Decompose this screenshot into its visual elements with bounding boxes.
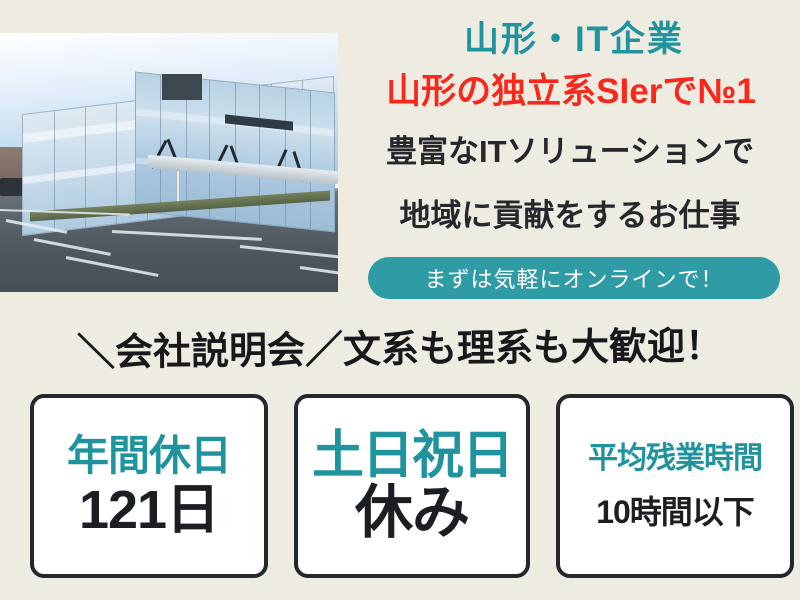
benefit-card-overtime: 平均残業時間 10時間以下 <box>556 394 794 578</box>
benefit-card-weekend-holidays: 土日祝日 休み <box>294 394 530 578</box>
benefit-card-annual-holidays: 年間休日 121日 <box>30 394 268 578</box>
benefit-card-label: 平均残業時間 <box>588 444 762 474</box>
headline-line-3: 豊富なITソリューションで <box>340 134 800 170</box>
banner-canvas: 山形・IT企業 山形の独立系SIerで№1 豊富なITソリューションで 地域に貢… <box>0 0 800 600</box>
online-cta-label: まずは気軽にオンラインで！ <box>424 262 723 294</box>
office-building-photo <box>0 33 338 292</box>
parked-cars <box>0 178 24 196</box>
benefit-card-label: 年間休日 <box>67 435 231 477</box>
benefit-card-label: 土日祝日 <box>312 430 512 482</box>
online-cta-pill[interactable]: まずは気軽にオンラインで！ <box>368 257 780 299</box>
info-session-banner: ＼会社説明会／文系も理系も大歓迎！ <box>0 314 800 377</box>
rooftop-sign <box>162 74 202 100</box>
headline-line-1: 山形・IT企業 <box>348 20 800 59</box>
headline-line-4: 地域に貢献をするお仕事 <box>340 198 800 234</box>
benefit-card-value: 121日 <box>79 483 219 537</box>
benefit-card-value: 休み <box>355 484 469 542</box>
benefit-card-value: 10時間以下 <box>596 496 754 528</box>
headline-line-2: 山形の独立系SIerで№1 <box>342 72 800 111</box>
